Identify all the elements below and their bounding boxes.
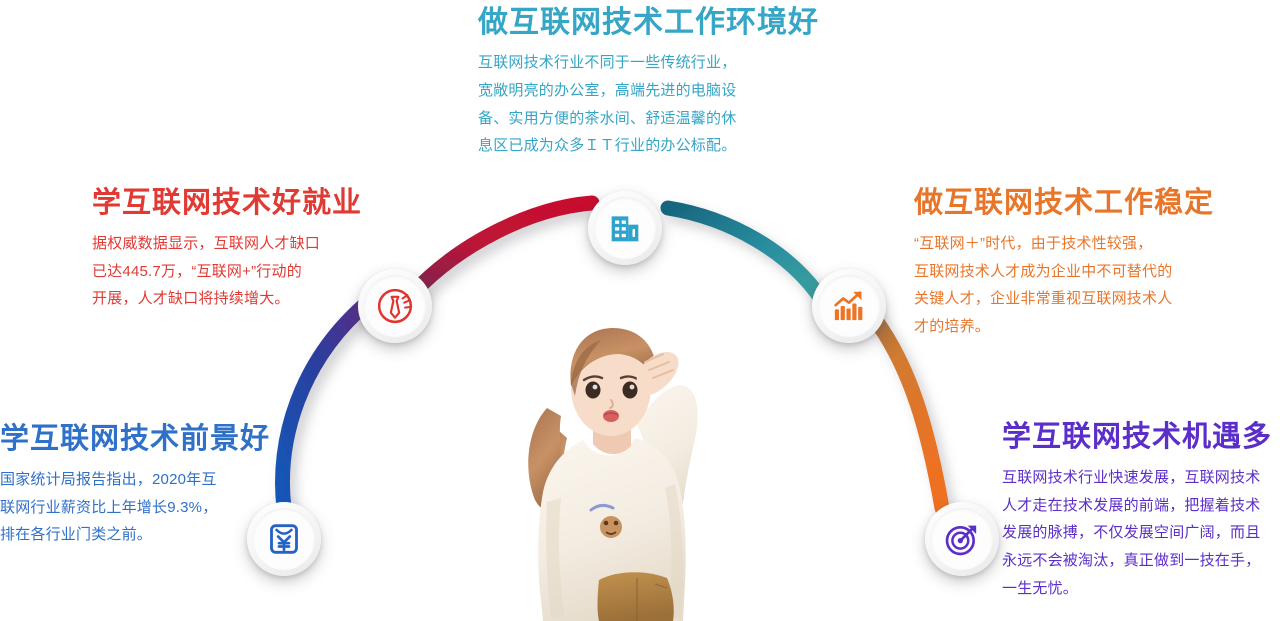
block-stable-line: 互联网技术人才成为企业中不可替代的 (914, 258, 1226, 286)
office-building-icon (605, 208, 645, 248)
necktie-circle-icon (375, 286, 415, 326)
block-chance-body: 互联网技术行业快速发展，互联网技术 人才走在技术发展的前端，把握着技术 发展的脉… (1002, 464, 1280, 603)
block-job-line: 开展，人才缺口将持续增大。 (92, 285, 392, 313)
block-work-environment: 做互联网技术工作环境好 互联网技术行业不同于一些传统行业， 宽敞明亮的办公室，高… (478, 6, 798, 160)
student-photo-illustration (487, 312, 737, 621)
block-prospect-line: 国家统计局报告指出，2020年互 (0, 466, 280, 494)
block-job-stability: 做互联网技术工作稳定 “互联网＋”时代，由于技术性较强， 互联网技术人才成为企业… (914, 188, 1226, 341)
block-prospect-line: 联网行业薪资比上年增长9.3%， (0, 494, 280, 522)
yuan-salary-icon (264, 519, 304, 559)
block-prospect-line: 排在各行业门类之前。 (0, 521, 280, 549)
block-prospect-body: 国家统计局报告指出，2020年互 联网行业薪资比上年增长9.3%， 排在各行业门… (0, 466, 280, 549)
block-env-title: 做互联网技术工作环境好 (478, 6, 798, 39)
block-stable-line: 才的培养。 (914, 313, 1226, 341)
target-arrow-icon-node[interactable] (925, 502, 999, 576)
block-job-title: 学互联网技术好就业 (92, 188, 392, 220)
block-opportunities: 学互联网技术机遇多 互联网技术行业快速发展，互联网技术 人才走在技术发展的前端，… (1002, 422, 1280, 603)
target-arrow-icon (942, 519, 982, 559)
block-env-line: 息区已成为众多ＩＴ行业的办公标配。 (478, 132, 798, 160)
block-chance-title: 学互联网技术机遇多 (1002, 422, 1280, 454)
block-job-body: 据权威数据显示，互联网人才缺口 已达445.7万，“互联网+”行动的 开展，人才… (92, 230, 392, 313)
block-stable-body: “互联网＋”时代，由于技术性较强， 互联网技术人才成为企业中不可替代的 关键人才… (914, 230, 1226, 341)
block-chance-line: 一生无忧。 (1002, 575, 1280, 603)
block-chance-line: 互联网技术行业快速发展，互联网技术 (1002, 464, 1280, 492)
block-chance-line: 人才走在技术发展的前端，把握着技术 (1002, 492, 1280, 520)
infographic-root: 做互联网技术工作环境好 互联网技术行业不同于一些传统行业， 宽敞明亮的办公室，高… (0, 0, 1280, 621)
block-env-line: 备、实用方便的茶水间、舒适温馨的休 (478, 105, 798, 133)
block-env-body: 互联网技术行业不同于一些传统行业， 宽敞明亮的办公室，高端先进的电脑设 备、实用… (478, 49, 798, 160)
growth-chart-icon-node[interactable] (812, 269, 886, 343)
block-env-line: 互联网技术行业不同于一些传统行业， (478, 49, 798, 77)
block-stable-line: 关键人才，企业非常重视互联网技术人 (914, 285, 1226, 313)
block-job-line: 已达445.7万，“互联网+”行动的 (92, 258, 392, 286)
block-employment: 学互联网技术好就业 据权威数据显示，互联网人才缺口 已达445.7万，“互联网+… (92, 188, 392, 313)
block-prospects: 学互联网技术前景好 国家统计局报告指出，2020年互 联网行业薪资比上年增长9.… (0, 424, 280, 549)
office-building-icon-node[interactable] (588, 191, 662, 265)
block-job-line: 据权威数据显示，互联网人才缺口 (92, 230, 392, 258)
block-prospect-title: 学互联网技术前景好 (0, 424, 280, 456)
block-stable-title: 做互联网技术工作稳定 (914, 188, 1226, 220)
block-chance-line: 永远不会被淘汰，真正做到一技在手， (1002, 547, 1280, 575)
block-stable-line: “互联网＋”时代，由于技术性较强， (914, 230, 1226, 258)
block-chance-line: 发展的脉搏，不仅发展空间广阔，而且 (1002, 519, 1280, 547)
student-photo (487, 312, 737, 621)
block-env-line: 宽敞明亮的办公室，高端先进的电脑设 (478, 77, 798, 105)
growth-chart-icon (829, 286, 869, 326)
